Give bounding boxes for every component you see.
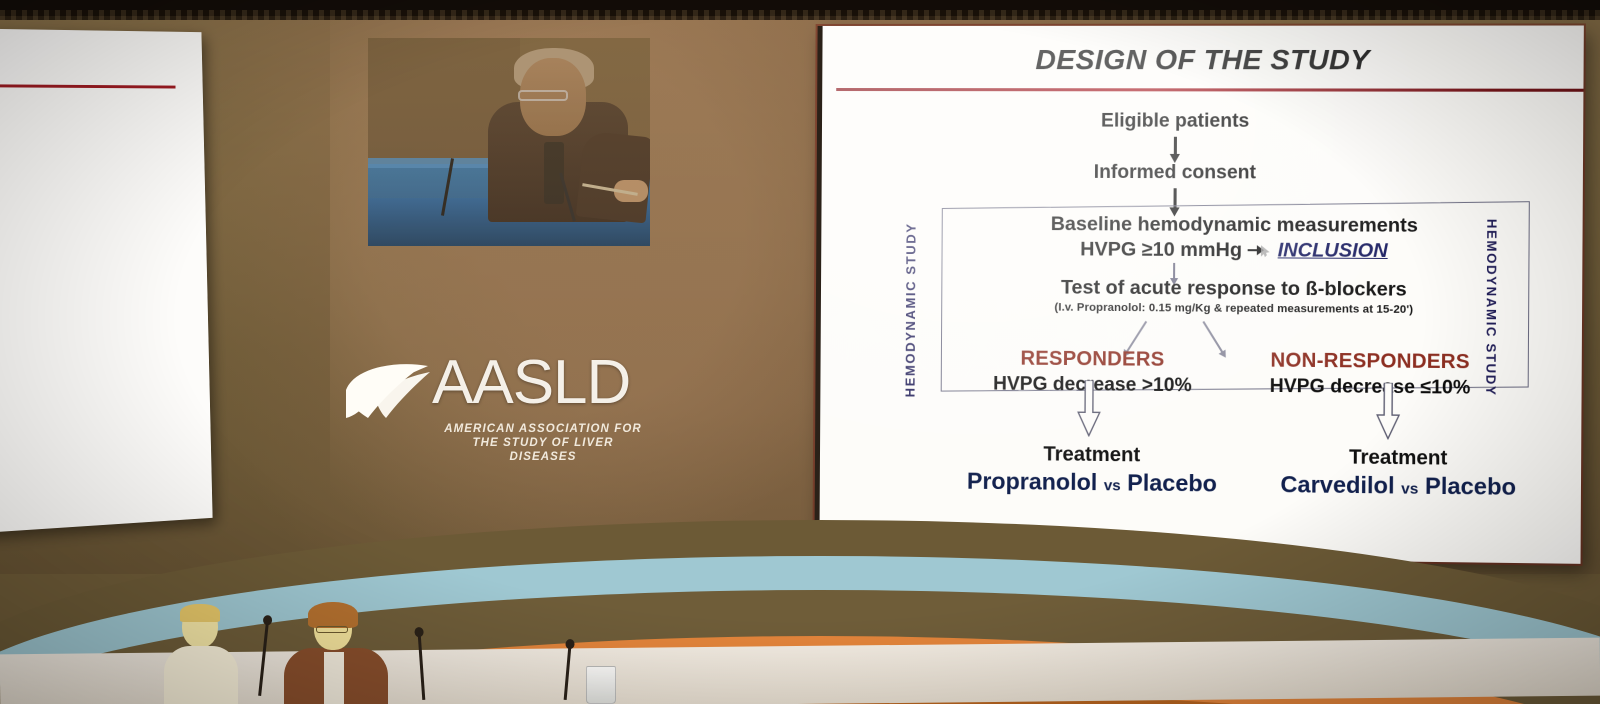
group-non-responders-title: NON-RESPONDERS: [1216, 349, 1524, 375]
inclusion-label: INCLUSION: [1278, 239, 1388, 262]
treatment-regimen-right: Carvedilol vs Placebo: [1224, 470, 1574, 501]
secondary-slide-rule: [0, 83, 176, 88]
slide-title: DESIGN OF THE STUDY: [822, 44, 1584, 77]
treatment-regimen-left: Propranolol vs Placebo: [930, 467, 1254, 498]
water-glass: [586, 666, 616, 704]
block-arrow-down-icon-left: [1077, 380, 1102, 437]
aasld-wordmark: AASLD: [432, 352, 630, 414]
group-non-responders-criterion: HVPG decrease ≤10%: [1216, 375, 1524, 400]
presentation-slide: DESIGN OF THE STUDY Eligible patients In…: [814, 25, 1583, 563]
treatment-drug-right: Carvedilol: [1280, 471, 1394, 499]
flow-node-baseline-measurements: Baseline hemodynamic measurements: [942, 213, 1530, 239]
auditorium-stage: Y HEMODYNAMIC STUDY AASLD AMERICAN ASSOC: [0, 0, 1600, 704]
panelist-left-fringe: [180, 604, 220, 622]
treatment-vs-right: vs: [1401, 480, 1418, 497]
panelist-right-shirt: [324, 652, 344, 704]
aasld-logo: AASLD AMERICAN ASSOCIATION FOR THE STUDY…: [344, 352, 644, 472]
panelist-right-hair: [308, 602, 358, 628]
treatment-label-right: Treatment: [1224, 445, 1574, 472]
secondary-projection-slide: Y HEMODYNAMIC STUDY: [0, 28, 213, 536]
group-responders-title: RESPONDERS: [951, 347, 1235, 372]
treatment-comparator-right: Placebo: [1425, 472, 1516, 499]
treatment-comparator-left: Placebo: [1127, 469, 1217, 496]
panelist-left-torso: [164, 646, 238, 704]
treatment-drug-left: Propranolol: [967, 468, 1098, 496]
group-non-responders: NON-RESPONDERS HVPG decrease ≤10%: [1216, 349, 1525, 400]
flow-node-eligible-patients: Eligible patients: [822, 110, 1535, 133]
vertical-label-right: HEMODYNAMIC STUDY: [1483, 219, 1500, 397]
panelist-right-glasses: [316, 626, 348, 633]
treatment-arm-non-responders: Treatment Carvedilol vs Placebo: [1224, 445, 1574, 501]
flow-node-acute-response-test: Test of acute response to ß-blockers: [941, 276, 1529, 303]
aasld-tagline-line1: AMERICAN ASSOCIATION FOR: [444, 423, 642, 435]
speaker-video-projection: [368, 38, 650, 246]
arrow-down-icon-1: [1174, 137, 1177, 155]
flow-node-hvpg-inclusion-row: HVPG ≥10 mmHg INCLUSION: [941, 238, 1529, 264]
vertical-label-left: HEMODYNAMIC STUDY: [902, 222, 918, 397]
flow-node-informed-consent: Informed consent: [822, 161, 1535, 185]
treatment-arm-responders: Treatment Propranolol vs Placebo: [930, 442, 1255, 498]
video-color-overlay: [368, 38, 650, 246]
treatment-vs-left: vs: [1104, 477, 1121, 494]
treatment-label-left: Treatment: [930, 442, 1254, 468]
hvpg-criterion-text: HVPG ≥10 mmHg: [1080, 238, 1242, 261]
ceiling-dark-band: [0, 0, 1600, 16]
block-arrow-down-icon-right: [1376, 383, 1401, 440]
slide-title-underline-rule: [836, 88, 1584, 92]
aasld-tagline: AMERICAN ASSOCIATION FOR THE STUDY OF LI…: [438, 422, 648, 464]
aasld-tagline-line2: THE STUDY OF LIVER DISEASES: [473, 437, 614, 463]
